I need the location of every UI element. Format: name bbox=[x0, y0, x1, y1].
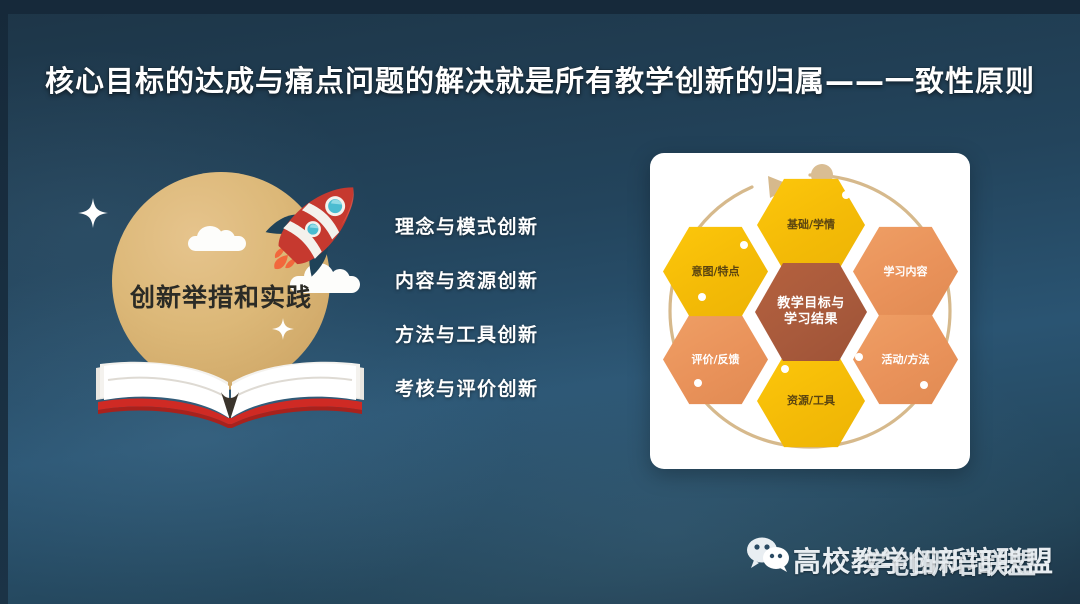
watermark: 高校教学创新培联盟 学创研培联盟 bbox=[745, 528, 1075, 584]
hexagon-node-label: 学习内容 bbox=[884, 265, 928, 279]
top-edge-strip bbox=[0, 0, 1080, 14]
hexagon-node-label: 资源/工具 bbox=[787, 394, 835, 408]
left-illustration: 创新举措和实践 bbox=[70, 160, 390, 430]
hexagon-node-label: 基础/学情 bbox=[787, 218, 835, 232]
node-dot bbox=[698, 293, 706, 301]
presentation-slide: 核心目标的达成与痛点问题的解决就是所有教学创新的归属——一致性原则 bbox=[0, 0, 1080, 604]
node-dot bbox=[694, 379, 702, 387]
hexagon-diagram-card: 基础/学情 学习内容 活动/方法 资源/工具 评价/反馈 意图/特点 bbox=[650, 153, 970, 469]
sparkle-icon bbox=[272, 318, 294, 340]
open-book-icon bbox=[90, 358, 370, 430]
circle-label: 创新举措和实践 bbox=[70, 278, 372, 314]
node-dot bbox=[740, 241, 748, 249]
wechat-icon bbox=[745, 536, 791, 576]
list-item[interactable]: 内容与资源创新 bbox=[395, 266, 595, 293]
slide-title: 核心目标的达成与痛点问题的解决就是所有教学创新的归属——一致性原则 bbox=[0, 58, 1080, 100]
hexagon-center-label: 教学目标与 学习结果 bbox=[777, 296, 845, 329]
list-item[interactable]: 考核与评价创新 bbox=[395, 374, 595, 401]
hexagon-center-line1: 教学目标与 bbox=[777, 296, 845, 311]
innovation-list: 理念与模式创新 内容与资源创新 方法与工具创新 考核与评价创新 bbox=[395, 212, 595, 401]
node-dot bbox=[920, 381, 928, 389]
hexagon-node-label: 活动/方法 bbox=[881, 353, 929, 367]
hexagon-center-line2: 学习结果 bbox=[784, 312, 838, 327]
cloud-icon bbox=[188, 236, 246, 251]
watermark-text-overlay: 学创研培联盟 bbox=[863, 542, 1037, 582]
rocket-icon bbox=[260, 170, 370, 285]
node-dot bbox=[855, 353, 863, 361]
list-item[interactable]: 理念与模式创新 bbox=[395, 212, 595, 239]
hexagon-node-label: 意图/特点 bbox=[691, 265, 739, 279]
hexagon-node-label: 评价/反馈 bbox=[691, 353, 739, 367]
sparkle-icon bbox=[78, 198, 108, 228]
list-item[interactable]: 方法与工具创新 bbox=[395, 320, 595, 347]
node-dot bbox=[842, 191, 850, 199]
node-dot bbox=[781, 365, 789, 373]
